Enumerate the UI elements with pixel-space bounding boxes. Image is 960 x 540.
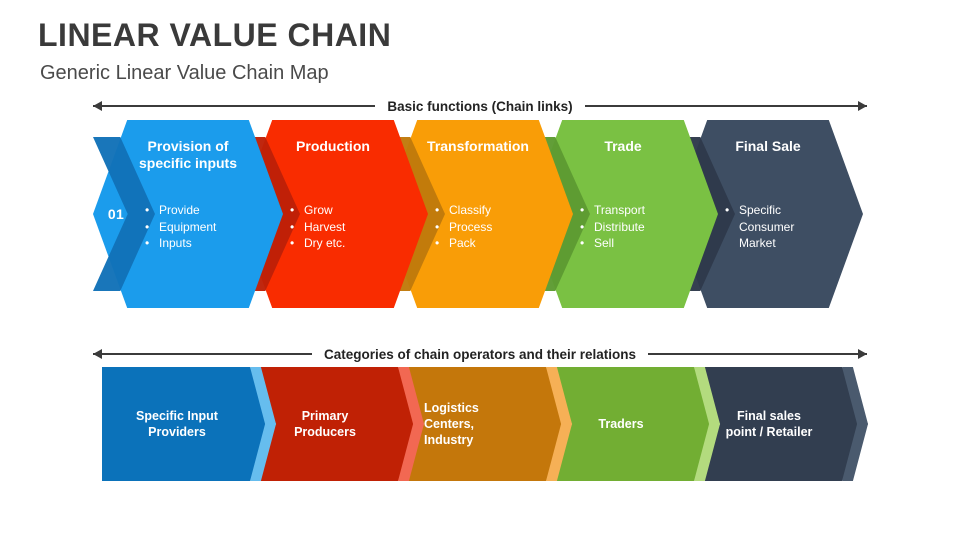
- operator-segment[interactable]: Final sales point / Retailer: [694, 367, 868, 481]
- stage-bullet-item: Harvest: [290, 219, 345, 236]
- stage-bullet-item: Pack: [435, 235, 492, 252]
- stage-hexagon[interactable]: 01Provision of specific inputsProvideEqu…: [93, 120, 283, 308]
- stage-number: 01: [99, 206, 133, 222]
- operator-segment[interactable]: Logistics Centers, Industry: [398, 367, 572, 481]
- operator-segment[interactable]: Primary Producers: [250, 367, 424, 481]
- page-subtitle: Generic Linear Value Chain Map: [40, 62, 329, 85]
- stage-bullet-list: GrowHarvestDry etc.: [290, 202, 345, 252]
- operator-segment[interactable]: Specific Input Providers: [102, 367, 276, 481]
- stage-bullet-item: Equipment: [145, 219, 216, 236]
- stage-bullet-item: Grow: [290, 202, 345, 219]
- stage-title: Provision of specific inputs: [93, 138, 283, 172]
- arrow-line-right: [585, 105, 867, 107]
- categories-label: Categories of chain operators and their …: [312, 347, 648, 362]
- stage-bullet-list: Specific Consumer Market: [725, 202, 794, 252]
- arrow-line-left: [93, 105, 375, 107]
- stage-bullet-item: Transport: [580, 202, 645, 219]
- stage-bullet-item: Process: [435, 219, 492, 236]
- chain-operators-bar: Specific Input ProvidersPrimary Producer…: [102, 367, 868, 481]
- stage-bullet-item: Sell: [580, 235, 645, 252]
- operator-label: Logistics Centers, Industry: [398, 400, 572, 448]
- value-chain-stages: 01Provision of specific inputsProvideEqu…: [0, 120, 960, 308]
- page-title: LINEAR VALUE CHAIN: [38, 17, 391, 54]
- operator-label: Specific Input Providers: [102, 408, 276, 440]
- arrow-line-left: [93, 353, 312, 355]
- stage-bullet-item: Dry etc.: [290, 235, 345, 252]
- stage-bullet-item: Inputs: [145, 235, 216, 252]
- basic-functions-label: Basic functions (Chain links): [375, 99, 584, 114]
- stage-bullet-item: Specific Consumer Market: [725, 202, 794, 252]
- operator-label: Final sales point / Retailer: [694, 408, 868, 440]
- arrow-line-right: [648, 353, 867, 355]
- operator-label: Primary Producers: [250, 408, 424, 440]
- operator-label: Traders: [546, 416, 720, 432]
- operator-segment[interactable]: Traders: [546, 367, 720, 481]
- stage-bullet-list: ProvideEquipmentInputs: [145, 202, 216, 252]
- stage-bullet-item: Distribute: [580, 219, 645, 236]
- stage-bullet-list: ClassifyProcessPack: [435, 202, 492, 252]
- basic-functions-band: Basic functions (Chain links): [93, 95, 867, 117]
- categories-band: Categories of chain operators and their …: [93, 343, 867, 365]
- stage-bullet-item: Provide: [145, 202, 216, 219]
- stage-bullet-list: TransportDistributeSell: [580, 202, 645, 252]
- stage-bullet-item: Classify: [435, 202, 492, 219]
